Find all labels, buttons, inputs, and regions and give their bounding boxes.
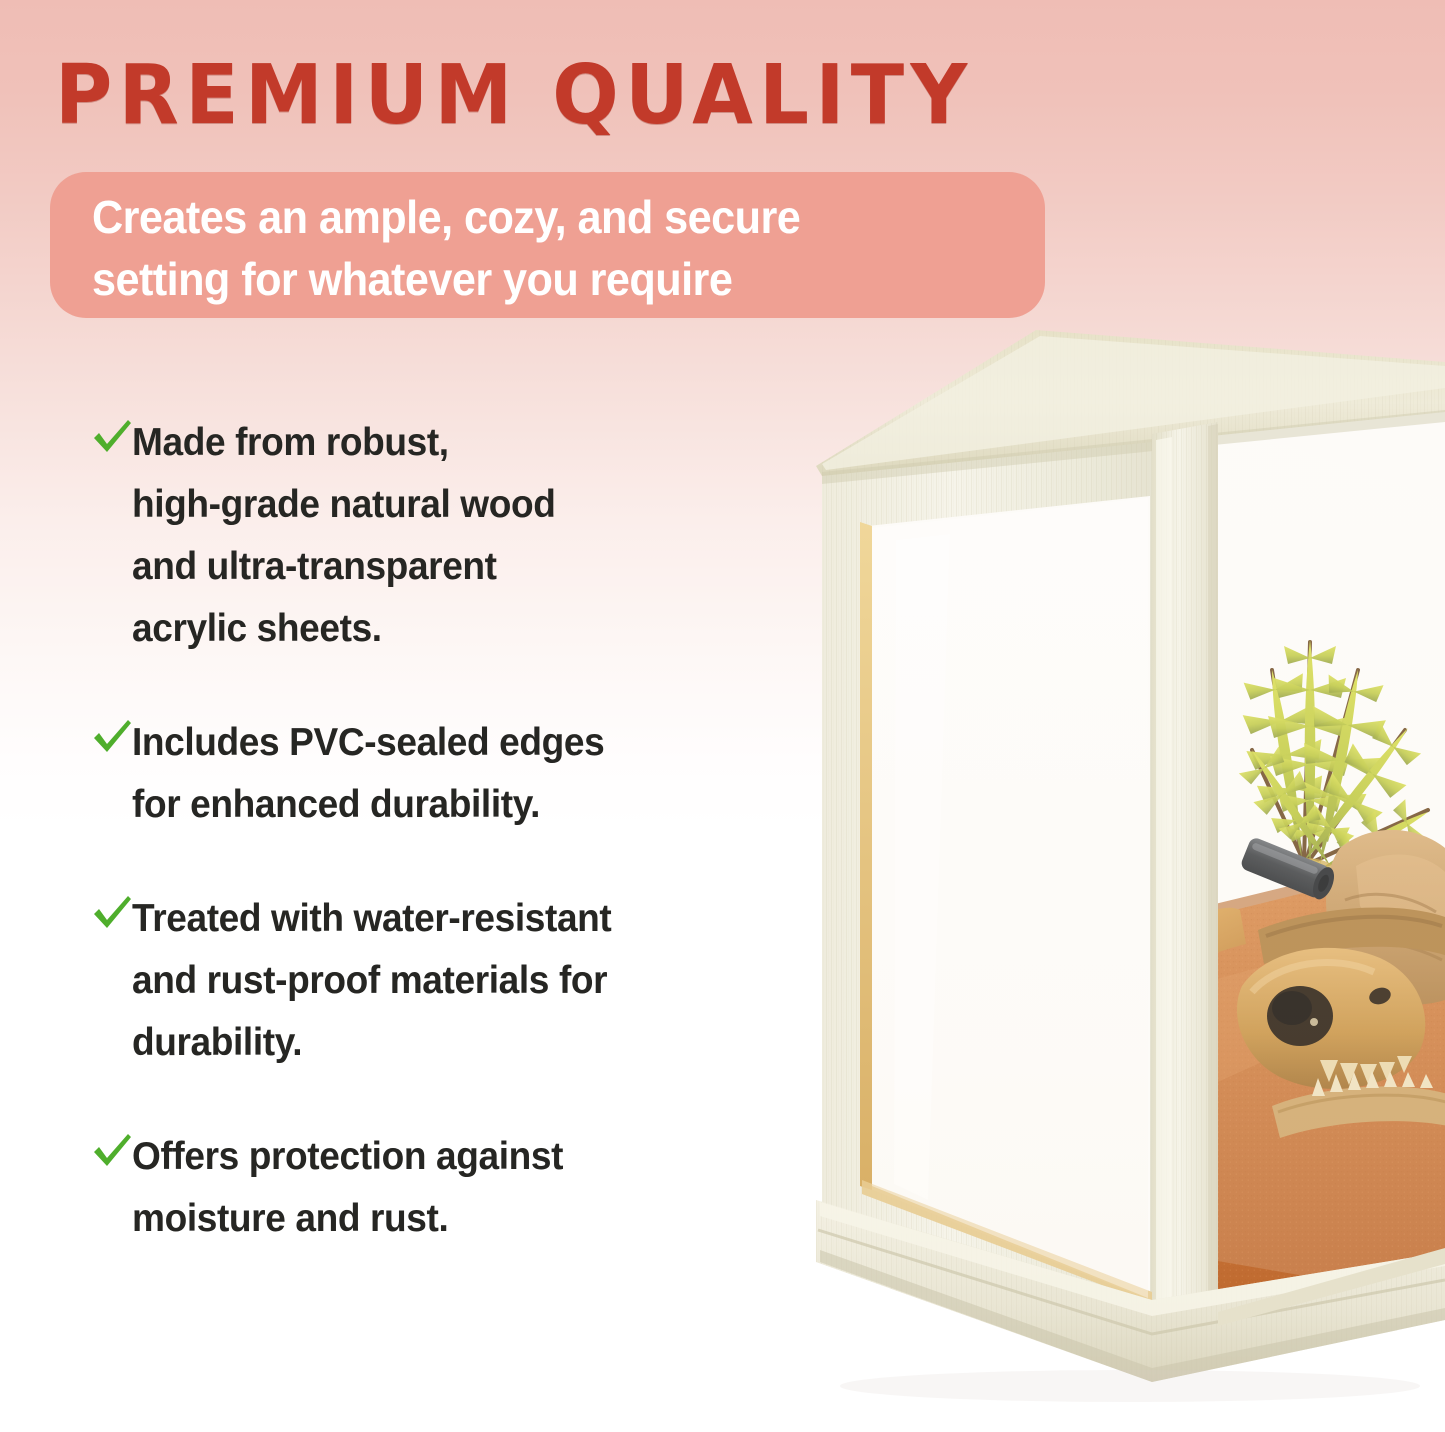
- product-photo-terrarium: [800, 300, 1445, 1432]
- check-icon: [90, 416, 134, 460]
- feature-list: Made from robust, high-grade natural woo…: [88, 412, 768, 1250]
- check-icon: [90, 716, 134, 760]
- promo-page: PREMIUM QUALITY Creates an ample, cozy, …: [0, 0, 1445, 1432]
- check-icon: [90, 892, 134, 936]
- check-icon: [90, 1130, 134, 1174]
- list-item-label: Includes PVC-sealed edges for enhanced d…: [132, 712, 604, 836]
- page-title: PREMIUM QUALITY: [55, 48, 1445, 144]
- list-item-label: Treated with water-resistant and rust-pr…: [132, 888, 611, 1074]
- subtitle-banner: Creates an ample, cozy, and secure setti…: [50, 172, 1045, 318]
- list-item-label: Offers protection against moisture and r…: [132, 1126, 563, 1250]
- list-item: Offers protection against moisture and r…: [88, 1126, 768, 1250]
- subtitle-banner-text: Creates an ample, cozy, and secure setti…: [92, 186, 948, 310]
- list-item: Includes PVC-sealed edges for enhanced d…: [88, 712, 768, 836]
- list-item-label: Made from robust, high-grade natural woo…: [132, 412, 556, 660]
- list-item: Treated with water-resistant and rust-pr…: [88, 888, 768, 1074]
- list-item: Made from robust, high-grade natural woo…: [88, 412, 768, 660]
